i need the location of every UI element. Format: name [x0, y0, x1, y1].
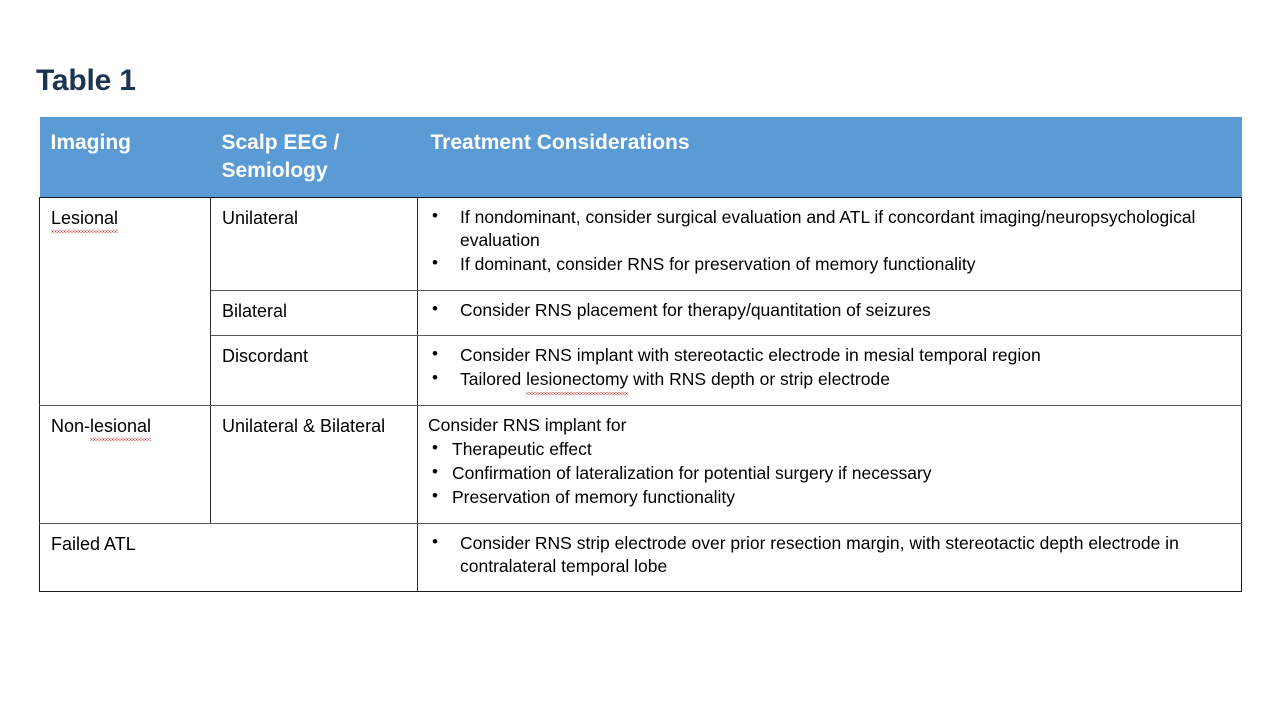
table-row: Bilateral Consider RNS placement for the…: [40, 290, 1242, 335]
list-item: Tailored lesionectomy with RNS depth or …: [418, 368, 1233, 391]
imaging-label-lesional: Lesional: [51, 207, 118, 230]
cell-imaging-lesional: Lesional: [40, 197, 211, 405]
slide-page: Table 1 Imaging Scalp EEG / Semiology Tr…: [0, 0, 1280, 720]
cell-imaging-failed-atl: Failed ATL: [40, 523, 418, 592]
list-item: Confirmation of lateralization for poten…: [418, 462, 1233, 485]
bullet-list: Consider RNS placement for therapy/quant…: [418, 299, 1233, 322]
cell-treatment-non-lesional: Consider RNS implant for Therapeutic eff…: [418, 405, 1242, 523]
list-item: If nondominant, consider surgical evalua…: [418, 206, 1233, 253]
misspelled-word-lesional: lesional: [90, 415, 151, 438]
cell-treatment-lesional-discordant: Consider RNS implant with stereotactic e…: [418, 336, 1242, 406]
page-title: Table 1: [36, 64, 136, 97]
column-header-scalp-eeg-semiology: Scalp EEG / Semiology: [211, 117, 418, 197]
cell-treatment-lesional-bilateral: Consider RNS placement for therapy/quant…: [418, 290, 1242, 335]
table-header: Imaging Scalp EEG / Semiology Treatment …: [40, 117, 1242, 197]
list-item: Therapeutic effect: [418, 438, 1233, 461]
list-item: Consider RNS placement for therapy/quant…: [418, 299, 1233, 322]
bullet-list: Consider RNS implant with stereotactic e…: [418, 344, 1233, 392]
treatment-lead-in: Consider RNS implant for: [418, 414, 1233, 437]
table-row: Non-lesional Unilateral & Bilateral Cons…: [40, 405, 1242, 523]
treatment-considerations-table: Imaging Scalp EEG / Semiology Treatment …: [39, 117, 1242, 592]
header-row: Imaging Scalp EEG / Semiology Treatment …: [40, 117, 1242, 197]
table-row: Failed ATL Consider RNS strip electrode …: [40, 523, 1242, 592]
text-before: Tailored: [460, 369, 526, 389]
cell-treatment-lesional-unilateral: If nondominant, consider surgical evalua…: [418, 197, 1242, 290]
cell-imaging-non-lesional: Non-lesional: [40, 405, 211, 523]
cell-eeg-unilateral: Unilateral: [211, 197, 418, 290]
cell-treatment-failed-atl: Consider RNS strip electrode over prior …: [418, 523, 1242, 592]
table-body: Lesional Unilateral If nondominant, cons…: [40, 197, 1242, 591]
table-row: Lesional Unilateral If nondominant, cons…: [40, 197, 1242, 290]
list-item: If dominant, consider RNS for preservati…: [418, 253, 1233, 276]
cell-eeg-unilateral-bilateral: Unilateral & Bilateral: [211, 405, 418, 523]
list-item: Consider RNS strip electrode over prior …: [418, 532, 1233, 579]
column-header-imaging: Imaging: [40, 117, 211, 197]
text-before: Non-: [51, 416, 90, 436]
list-item: Preservation of memory functionality: [418, 486, 1233, 509]
misspelled-word-lesionectomy: lesionectomy: [526, 368, 628, 391]
table-container: Imaging Scalp EEG / Semiology Treatment …: [39, 117, 1241, 592]
text-after: with RNS depth or strip electrode: [628, 369, 890, 389]
bullet-list: Therapeutic effect Confirmation of later…: [418, 438, 1233, 510]
cell-eeg-bilateral: Bilateral: [211, 290, 418, 335]
bullet-list: If nondominant, consider surgical evalua…: [418, 206, 1233, 277]
list-item: Consider RNS implant with stereotactic e…: [418, 344, 1233, 367]
table-row: Discordant Consider RNS implant with ste…: [40, 336, 1242, 406]
column-header-treatment-considerations: Treatment Considerations: [418, 117, 1242, 197]
bullet-list: Consider RNS strip electrode over prior …: [418, 532, 1233, 579]
cell-eeg-discordant: Discordant: [211, 336, 418, 406]
